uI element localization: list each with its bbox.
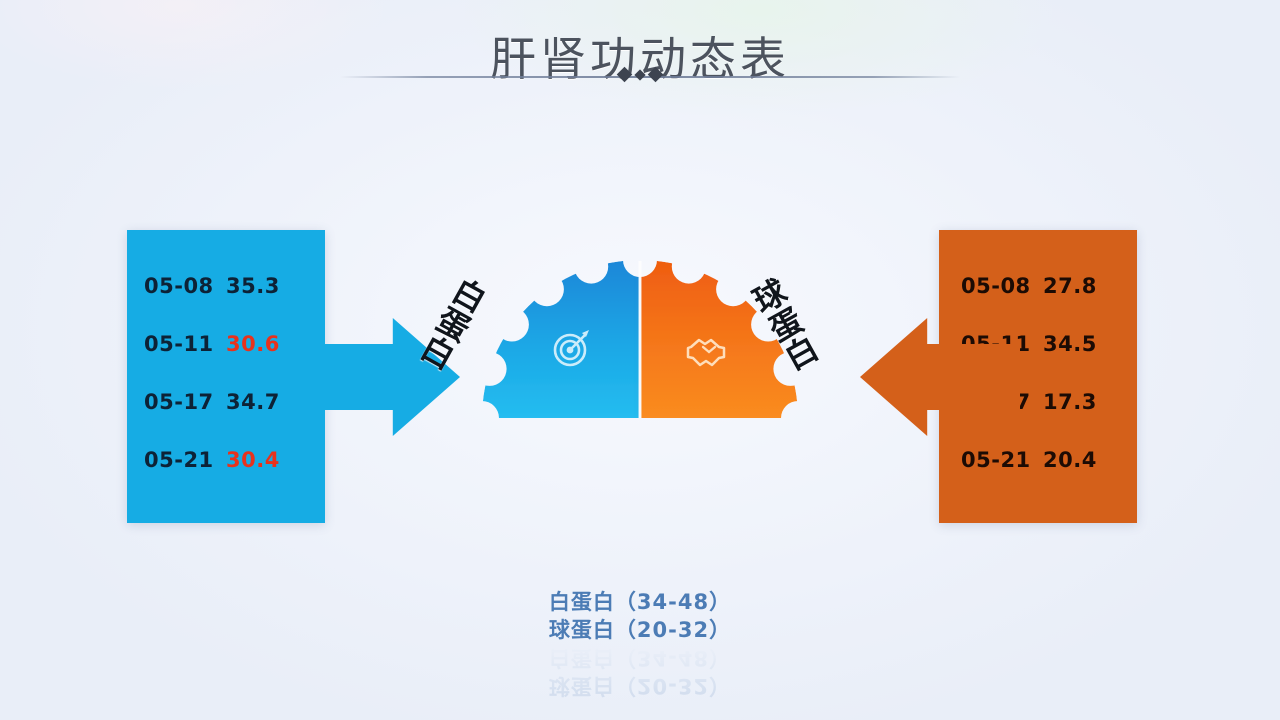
row-date: 05-17 [144,390,226,414]
row-value-abnormal: 17.3 [1043,390,1097,414]
row-value-abnormal: 34.5 [1043,332,1097,356]
legend-reflection-line-albumin: 球蛋白（20-32） [0,672,1280,700]
table-row: 05-17 34.7 [144,390,309,448]
legend-reflection-line-globulin: 白蛋白（34-48） [0,644,1280,672]
table-row: 05-11 30.6 [144,332,309,390]
row-value-abnormal: 30.6 [226,332,280,356]
table-row: 05-08 27.8 [961,274,1121,332]
row-date: 05-21 [144,448,226,472]
row-value: 34.7 [226,390,280,414]
row-date: 05-11 [144,332,226,356]
row-value: 27.8 [1043,274,1097,298]
legend-reflection: 球蛋白（20-32） 白蛋白（34-48） [0,644,1280,700]
table-row: 05-08 35.3 [144,274,309,332]
row-value: 20.4 [1043,448,1097,472]
row-date: 05-08 [961,274,1043,298]
albumin-data-panel: 05-08 35.3 05-11 30.6 05-17 34.7 05-21 3… [127,230,325,523]
albumin-row-list: 05-08 35.3 05-11 30.6 05-17 34.7 05-21 3… [127,274,325,506]
row-value-abnormal: 30.4 [226,448,280,472]
table-row: 05-21 20.4 [961,448,1121,506]
legend-line-globulin: 球蛋白（20-32） [0,616,1280,644]
title-divider-rule [340,76,960,78]
row-date: 05-21 [961,448,1043,472]
row-value: 35.3 [226,274,280,298]
slide-canvas: 肝肾功动态表 05-08 35.3 05-11 30.6 05-17 34.7 … [0,0,1280,720]
table-row: 05-21 30.4 [144,448,309,506]
row-date: 05-08 [144,274,226,298]
reference-range-legend: 白蛋白（34-48） 球蛋白（20-32） [0,588,1280,644]
gear-diagram [478,250,802,432]
legend-line-albumin: 白蛋白（34-48） [0,588,1280,616]
